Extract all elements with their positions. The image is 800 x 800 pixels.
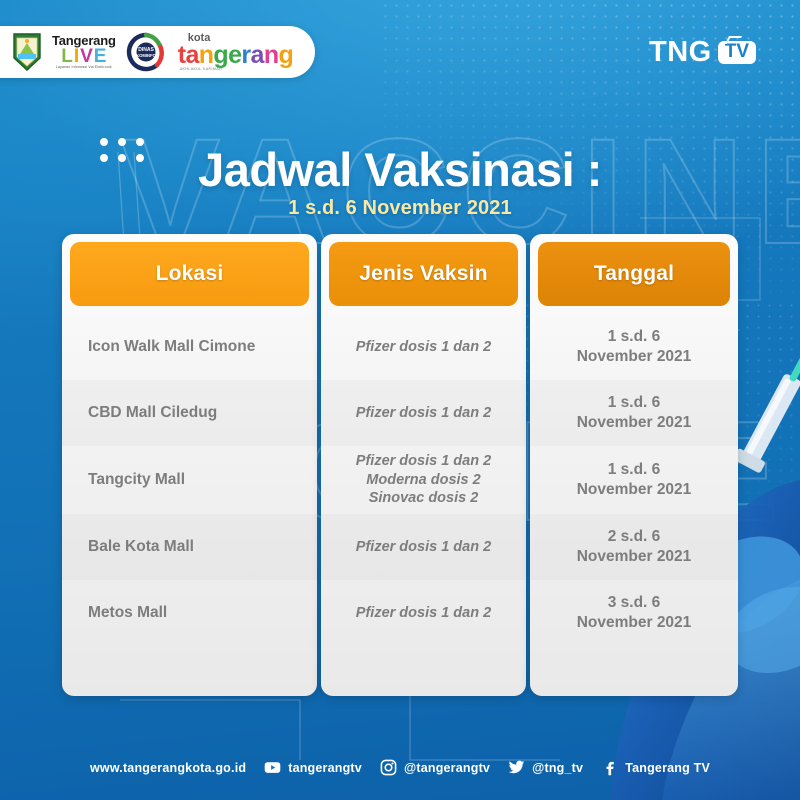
column-bottom-padding	[62, 646, 317, 696]
table-cell: Pfizer dosis 1 dan 2	[321, 380, 526, 446]
table-cell: Tangcity Mall	[62, 446, 317, 514]
column-bottom-padding	[530, 646, 738, 696]
column-cells-lokasi: Icon Walk Mall Cimone CBD Mall Ciledug T…	[62, 314, 317, 696]
footer-handle: tangerangtv	[288, 761, 362, 775]
tng-letter-8: g	[279, 44, 294, 68]
live-letter-v: V	[80, 48, 93, 65]
page-title: Jadwal Vaksinasi :	[0, 142, 800, 197]
tng-letter-2: n	[199, 44, 214, 68]
table-cell: Bale Kota Mall	[62, 514, 317, 580]
facebook-icon	[601, 759, 618, 776]
tng-letter-0: t	[178, 44, 186, 68]
live-letter-i: I	[74, 48, 79, 65]
tngtv-brand-logo: TNG TV	[649, 36, 756, 69]
kota-tangerang-tagline: AKHLAKUL KARIMAH	[180, 68, 294, 72]
table-cell: Pfizer dosis 1 dan 2	[321, 514, 526, 580]
tng-letter-5: r	[241, 44, 250, 68]
tv-chip-icon: TV	[718, 41, 756, 64]
tng-letter-4: e	[228, 44, 241, 68]
schedule-table: Lokasi Icon Walk Mall Cimone CBD Mall Ci…	[62, 234, 738, 696]
live-letter-e: E	[94, 48, 107, 65]
tng-wordmark: TNG	[649, 36, 712, 69]
table-cell: 1 s.d. 6November 2021	[530, 446, 738, 514]
youtube-icon	[264, 759, 281, 776]
live-logo-subtext: Layanan Informasi Via Elektronik	[56, 66, 112, 69]
footer-social-facebook[interactable]: Tangerang TV	[601, 759, 710, 776]
table-column-lokasi: Lokasi Icon Walk Mall Cimone CBD Mall Ci…	[62, 234, 317, 696]
tng-letter-1: a	[185, 44, 198, 68]
table-cell: 2 s.d. 6November 2021	[530, 514, 738, 580]
footer-handle: @tangerangtv	[404, 761, 490, 775]
table-cell: Pfizer dosis 1 dan 2	[321, 314, 526, 380]
poster-canvas: VACCINE VACCINE	[0, 0, 800, 800]
live-letter-l: L	[61, 48, 73, 65]
column-cells-jenis-vaksin: Pfizer dosis 1 dan 2 Pfizer dosis 1 dan …	[321, 314, 526, 696]
table-cell: 1 s.d. 6November 2021	[530, 314, 738, 380]
footer-website[interactable]: www.tangerangkota.go.id	[90, 761, 246, 775]
page-subtitle: 1 s.d. 6 November 2021	[0, 197, 800, 220]
column-header-jenis-vaksin: Jenis Vaksin	[329, 242, 518, 306]
partner-logo-badge: Tangerang L I V E Layanan Informasi Via …	[0, 26, 315, 78]
tangerang-city-crest-icon	[12, 32, 42, 72]
table-cell: 3 s.d. 6November 2021	[530, 580, 738, 646]
tng-letter-3: g	[213, 44, 228, 68]
footer-bar: www.tangerangkota.go.id tangerangtv @tan…	[0, 759, 800, 776]
diskominfo-logo-icon: DINAS KOMINFO	[126, 32, 166, 72]
table-cell: CBD Mall Ciledug	[62, 380, 317, 446]
twitter-icon	[508, 759, 525, 776]
footer-social-instagram[interactable]: @tangerangtv	[380, 759, 490, 776]
tng-letter-7: n	[264, 44, 279, 68]
instagram-icon	[380, 759, 397, 776]
footer-social-twitter[interactable]: @tng_tv	[508, 759, 583, 776]
tangerang-live-logo: Tangerang L I V E Layanan Informasi Via …	[52, 34, 116, 70]
live-logo-letters: L I V E	[61, 48, 106, 65]
footer-social-youtube[interactable]: tangerangtv	[264, 759, 362, 776]
table-cell: Metos Mall	[62, 580, 317, 646]
table-column-tanggal: Tanggal 1 s.d. 6November 2021 1 s.d. 6No…	[530, 234, 738, 696]
table-cell: Pfizer dosis 1 dan 2	[321, 580, 526, 646]
column-header-lokasi: Lokasi	[70, 242, 309, 306]
kota-tangerang-logo: kota t a n g e r a n g AKHLAKUL KARIMAH	[178, 33, 294, 71]
table-cell: 1 s.d. 6November 2021	[530, 380, 738, 446]
tng-letter-6: a	[251, 44, 264, 68]
table-cell: Pfizer dosis 1 dan 2Moderna dosis 2Sinov…	[321, 446, 526, 514]
footer-handle: Tangerang TV	[625, 761, 710, 775]
svg-text:KOMINFO: KOMINFO	[136, 53, 157, 58]
footer-handle: @tng_tv	[532, 761, 583, 775]
tangerang-word: t a n g e r a n g	[178, 44, 294, 68]
table-column-jenis-vaksin: Jenis Vaksin Pfizer dosis 1 dan 2 Pfizer…	[321, 234, 526, 696]
column-header-tanggal: Tanggal	[538, 242, 730, 306]
column-bottom-padding	[321, 646, 526, 696]
table-cell: Icon Walk Mall Cimone	[62, 314, 317, 380]
column-cells-tanggal: 1 s.d. 6November 2021 1 s.d. 6November 2…	[530, 314, 738, 696]
